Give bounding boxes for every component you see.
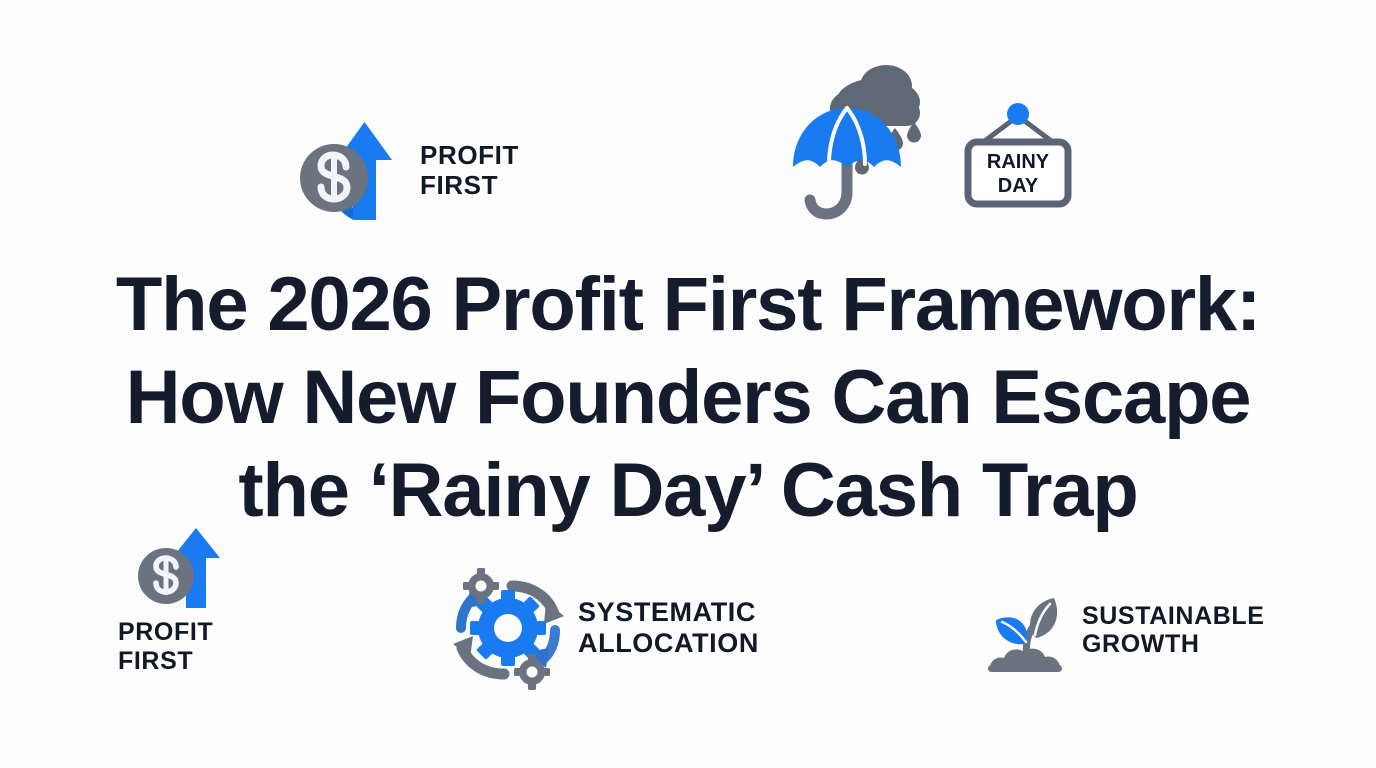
rainy-day-cluster: RAINY DAY: [790, 50, 1090, 240]
badge-sustainable-growth: SUSTAINABLE GROWTH: [982, 586, 1265, 674]
poster-canvas: PROFIT FIRST: [0, 0, 1376, 768]
page-title: The 2026 Profit First Framework: How New…: [0, 258, 1376, 537]
dollar-coin-up-arrow-icon: [134, 524, 238, 610]
umbrella-rain-cloud-icon: [790, 50, 942, 225]
badge-profit-first-bottom: PROFIT FIRST: [118, 524, 238, 675]
hanging-sign-icon: RAINY DAY: [956, 100, 1080, 210]
badge-label-profit-first-top: PROFIT FIRST: [420, 141, 519, 200]
sign-text-line2: DAY: [998, 175, 1039, 197]
sign-text-line1: RAINY: [987, 151, 1050, 173]
gears-cycle-icon: [446, 566, 570, 690]
badge-label-systematic-allocation: SYSTEMATIC ALLOCATION: [578, 597, 759, 659]
badge-label-profit-first-bottom: PROFIT FIRST: [118, 618, 213, 675]
headline-line-1: The 2026 Profit First Framework:: [0, 258, 1376, 351]
badge-systematic-allocation: SYSTEMATIC ALLOCATION: [446, 566, 759, 690]
badge-label-sustainable-growth: SUSTAINABLE GROWTH: [1082, 602, 1265, 659]
badge-profit-first-top: PROFIT FIRST: [296, 116, 519, 224]
seedling-sprout-icon: [982, 586, 1070, 674]
dollar-coin-up-arrow-icon: [296, 116, 406, 224]
headline-line-2: How New Founders Can Escape: [0, 351, 1376, 444]
